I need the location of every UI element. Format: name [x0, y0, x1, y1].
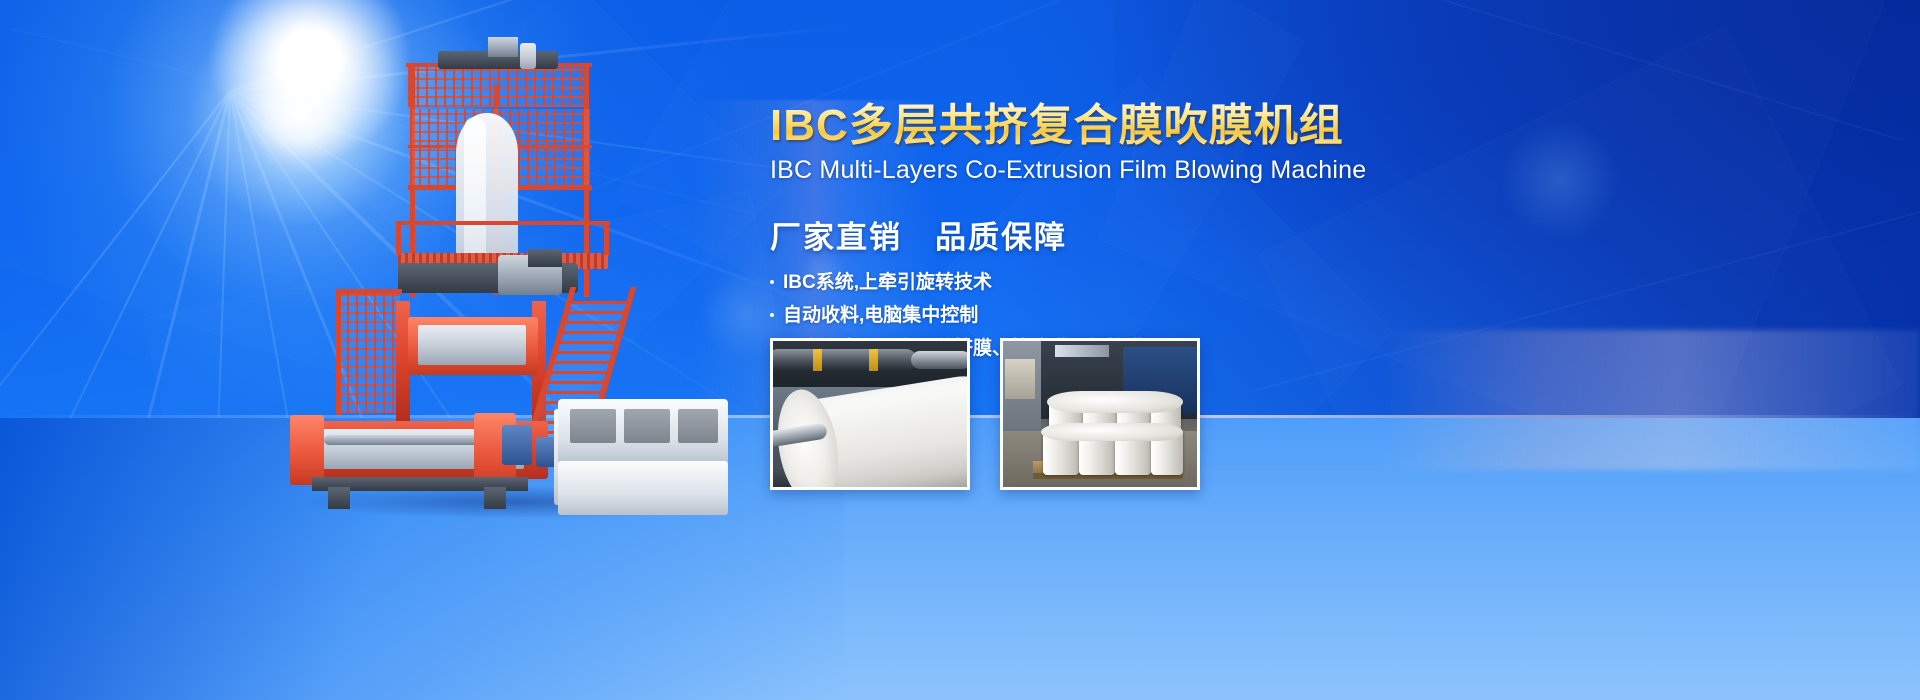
product-photo-film-roll: [770, 338, 970, 490]
product-photo-gallery: [770, 338, 1200, 490]
feature-text: 自动收料,电脑集中控制: [783, 306, 978, 325]
bullet-dot-icon: [770, 280, 774, 284]
bullet-dot-icon: [770, 313, 774, 317]
list-item: 自动收料,电脑集中控制: [770, 306, 1670, 325]
list-item: IBC系统,上牵引旋转技术: [770, 273, 1670, 292]
machine-top-platform: [408, 67, 588, 107]
banner-title: IBC多层共挤复合膜吹膜机组: [770, 100, 1670, 152]
banner-text-block: IBC多层共挤复合膜吹膜机组 IBC Multi-Layers Co-Extru…: [770, 100, 1670, 374]
feature-text: IBC系统,上牵引旋转技术: [783, 273, 992, 292]
banner-slogan: 厂家直销 品质保障: [770, 212, 1670, 257]
machine-left-guard: [338, 293, 400, 413]
machine-motor: [502, 425, 532, 465]
product-photo-stacked-rolls: [1000, 338, 1200, 490]
banner-subtitle: IBC Multi-Layers Co-Extrusion Film Blowi…: [770, 156, 1670, 185]
product-banner: IBC多层共挤复合膜吹膜机组 IBC Multi-Layers Co-Extru…: [0, 0, 1920, 700]
machine-photo: [288, 25, 738, 515]
